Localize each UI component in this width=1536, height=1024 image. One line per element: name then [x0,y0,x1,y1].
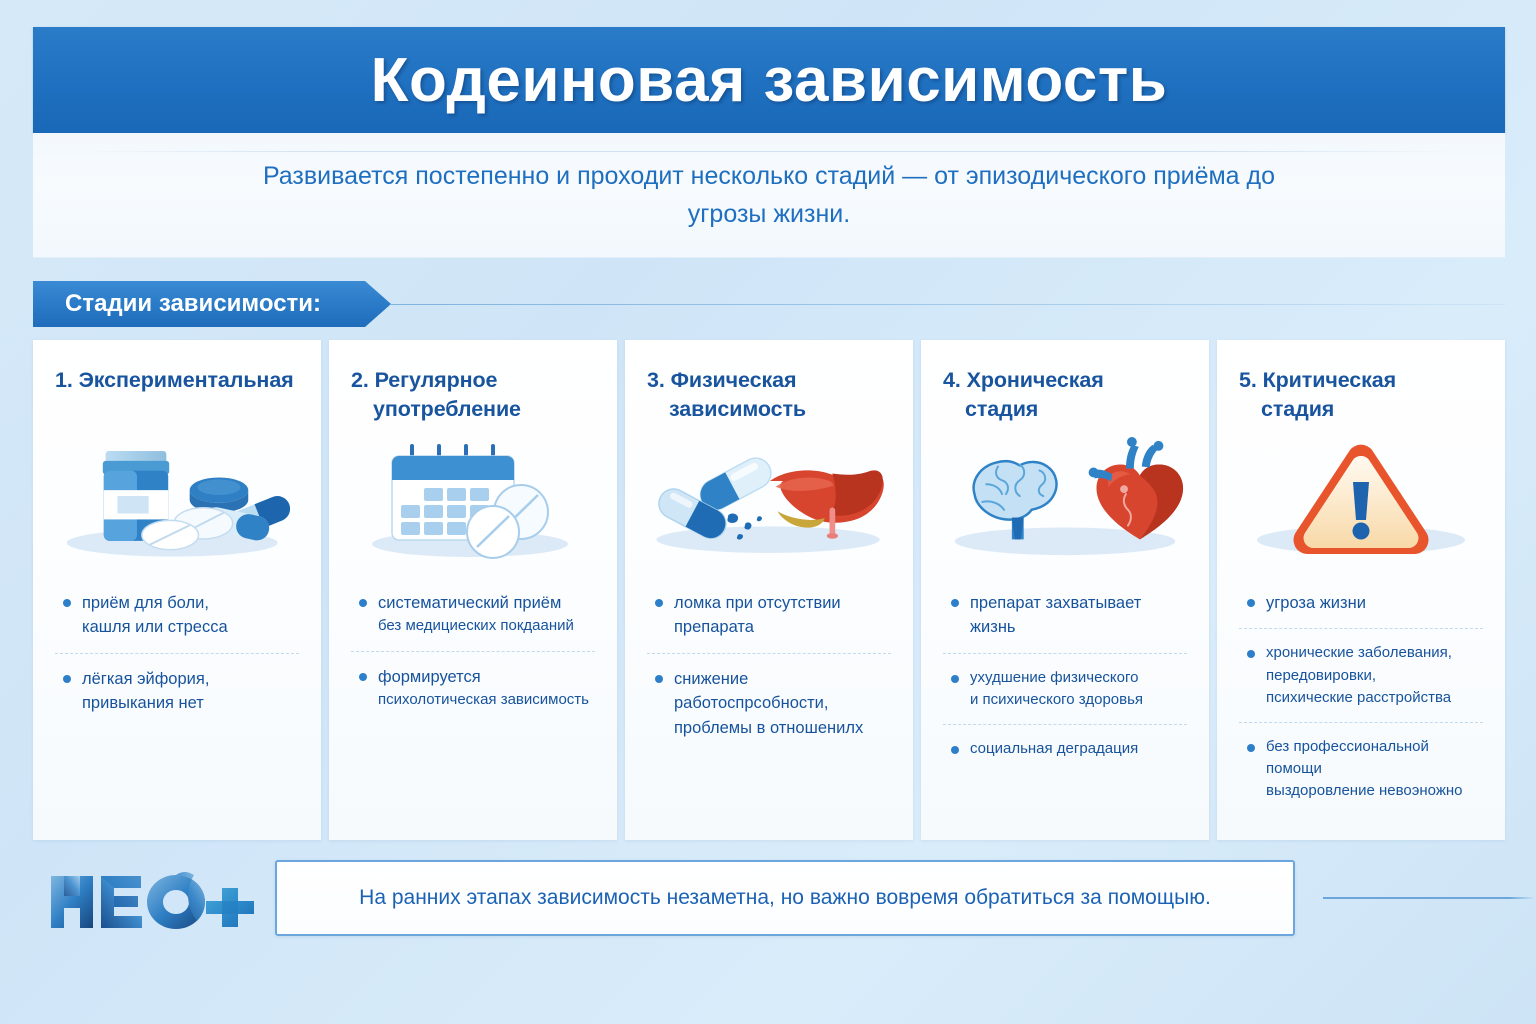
stage-card-4-title: 4. Хроническая стадия [943,366,1187,424]
stages-tag-label: Стадии зависимости: [65,290,321,318]
stage-card-4-icon-area [943,428,1187,560]
bullet-dot-icon [1247,744,1255,752]
list-item: хронические заболевания,передовировки,пс… [1239,628,1483,722]
stage-card-5-title: 5. Критическая стадия [1239,366,1483,424]
stage-card-4-bullets: препарат захватываетжизнь ухудшение физи… [943,578,1187,773]
stage-card-5-title-line2: стадия [1239,395,1483,424]
stage-card-3-title-line1: 3. Физическая [647,368,796,392]
bullet-dot-icon [951,599,959,607]
stage-card-3[interactable]: 3. Физическая зависимость [625,340,913,840]
stage-card-4[interactable]: 4. Хроническая стадия [921,340,1209,840]
stage-card-2-icon-area [351,428,595,560]
footer: На ранних этапах зависимость незаметна, … [33,858,1505,950]
stage-card-2-title-line2: употребление [351,395,595,424]
stage-card-5-bullets: угроза жизни хронические заболевания,пер… [1239,578,1483,816]
list-item: без профессиональной помощивыздоровление… [1239,722,1483,816]
stage-card-4-title-line1: 4. Хроническая [943,368,1104,392]
infographic-poster: Кодеиновая зависимость Развивается посте… [0,0,1536,1024]
bullet-subtext: без медициеских покдааний [378,615,574,637]
stage-card-3-icon-area [647,428,891,560]
bullet-dot-icon [951,746,959,754]
list-item: лёгкая эйфория,привыкания нет [55,653,299,729]
bullet-text: без профессиональной помощивыздоровление… [1266,736,1483,803]
bullet-text: формируется [378,668,481,686]
bullet-dot-icon [359,599,367,607]
bullet-text: социальная деградация [970,738,1138,760]
stages-tag: Стадии зависимости: [33,281,391,327]
subtitle-band: Развивается постепенно и проходит нескол… [33,133,1505,258]
stage-card-5[interactable]: 5. Критическая стадия [1217,340,1505,840]
stage-card-1-bullets: приём для боли,кашля или стресса лёгкая … [55,578,299,729]
bullet-text: хронические заболевания,передовировки,пс… [1266,642,1452,709]
bullet-dot-icon [63,599,71,607]
stage-card-2-title-line1: 2. Регулярное [351,368,497,392]
neo-plus-logo-icon [45,866,255,938]
footer-note-box: На ранних этапах зависимость незаметна, … [275,860,1295,936]
bullet-text: снижениеработоспрсобности,проблемы в отн… [674,667,863,740]
calendar-pills-icon [366,432,581,560]
list-item: формируется психолотическая зависимость [351,651,595,725]
list-item: ухудшение физическогои психического здор… [943,653,1187,724]
page-title: Кодеиновая зависимость [371,45,1168,116]
list-item: препарат захватываетжизнь [943,578,1187,653]
stage-cards-row: 1. Экспериментальная [33,340,1505,840]
pill-bottle-icon [55,432,299,560]
bullet-subtext: психолотическая зависимость [378,689,589,711]
brain-heart-icon [943,436,1187,560]
bullet-text: ухудшение физическогои психического здор… [970,667,1143,711]
footer-rule [1323,897,1535,899]
bullet-text: угроза жизни [1266,591,1366,615]
stage-card-2[interactable]: 2. Регулярное употребление [329,340,617,840]
bullet-dot-icon [1247,599,1255,607]
bullet-text: систематический приём [378,594,561,612]
bullet-dot-icon [655,599,663,607]
list-item: социальная деградация [943,724,1187,773]
bullet-text: препарат захватываетжизнь [970,591,1141,640]
stage-card-3-title: 3. Физическая зависимость [647,366,891,424]
list-item: ломка при отсутствиипрепарата [647,578,891,653]
stage-card-5-icon-area [1239,428,1483,560]
stage-card-3-title-line2: зависимость [647,395,891,424]
list-item: систематический приём без медициеских по… [351,578,595,651]
stages-divider-rule [391,304,1505,305]
stage-card-5-title-line1: 5. Критическая [1239,368,1396,392]
stage-card-1[interactable]: 1. Экспериментальная [33,340,321,840]
bullet-dot-icon [1247,650,1255,658]
bullet-dot-icon [951,675,959,683]
stage-card-4-title-line2: стадия [943,395,1187,424]
stage-card-3-bullets: ломка при отсутствиипрепарата снижениера… [647,578,891,753]
bullet-dot-icon [63,675,71,683]
footer-note-text: На ранних этапах зависимость незаметна, … [335,886,1235,910]
list-item: приём для боли,кашля или стресса [55,578,299,653]
stage-card-2-bullets: систематический приём без медициеских по… [351,578,595,724]
bullet-dot-icon [359,673,367,681]
stage-card-1-title-line1: 1. Экспериментальная [55,368,294,392]
bullet-text: лёгкая эйфория,привыкания нет [82,667,209,716]
list-item: угроза жизни [1239,578,1483,628]
capsules-liver-icon [647,438,891,560]
list-item: снижениеработоспрсобности,проблемы в отн… [647,653,891,753]
bullet-text: ломка при отсутствиипрепарата [674,591,841,640]
stage-card-1-icon-area [55,428,299,560]
header-bar: Кодеиновая зависимость [33,27,1505,133]
bullet-text: приём для боли,кашля или стресса [82,591,228,640]
stage-card-2-title: 2. Регулярное употребление [351,366,595,424]
subtitle-text: Развивается постепенно и проходит нескол… [239,157,1299,233]
stages-section-header: Стадии зависимости: [33,281,1505,327]
neo-plus-logo [45,866,255,938]
warning-triangle-icon [1246,436,1476,560]
stage-card-1-title: 1. Экспериментальная [55,366,299,424]
bullet-dot-icon [655,675,663,683]
